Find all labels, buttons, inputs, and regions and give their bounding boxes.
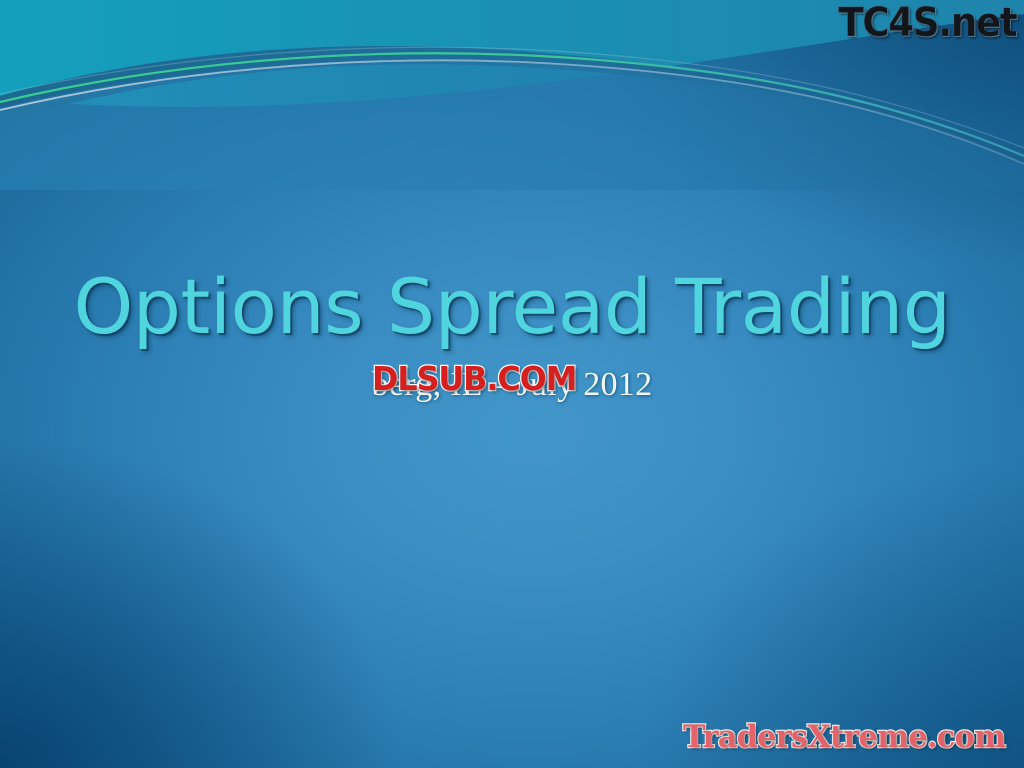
watermark-tc4s: TC4S.net bbox=[838, 0, 1016, 46]
title-placeholder: Options Spread Trading bbox=[0, 268, 1024, 346]
watermark-dlsub: DLSUB.COM bbox=[372, 359, 576, 398]
presentation-slide: Options Spread Trading berg, IL – July 2… bbox=[0, 0, 1024, 768]
watermark-tradersxtreme: TradersXtreme.com bbox=[683, 719, 1005, 755]
slide-title: Options Spread Trading bbox=[0, 268, 1024, 346]
